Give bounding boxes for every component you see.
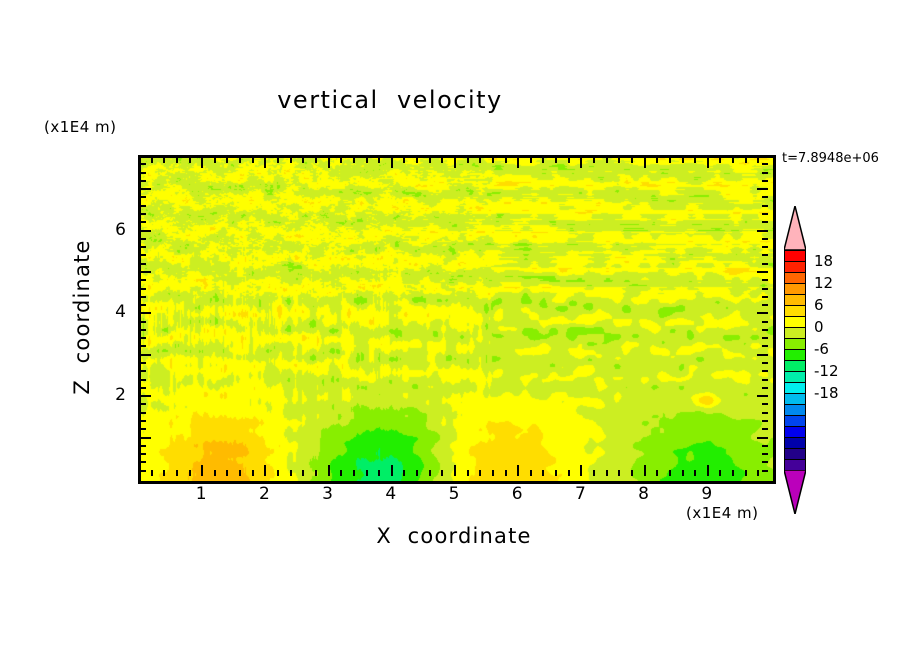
x-axis-tick xyxy=(378,157,380,163)
y-axis-tick xyxy=(140,172,146,174)
velocity-field-heatmap xyxy=(141,158,773,481)
x-axis-tick xyxy=(580,465,582,476)
y-axis-tick xyxy=(762,387,768,389)
y-axis-tick xyxy=(140,403,146,405)
x-axis-tick-label: 3 xyxy=(322,484,333,504)
y-axis-tick xyxy=(762,304,768,306)
y-axis-tick xyxy=(762,329,768,331)
x-axis-tick xyxy=(593,470,595,476)
y-axis-tick xyxy=(140,279,146,281)
y-axis-tick xyxy=(757,312,768,314)
y-axis-tick xyxy=(140,254,146,256)
y-axis-tick xyxy=(140,370,146,372)
y-axis-tick xyxy=(762,428,768,430)
x-axis-tick xyxy=(593,157,595,163)
x-axis-tick xyxy=(682,470,684,476)
y-axis-tick xyxy=(140,296,146,298)
x-axis-tick xyxy=(163,470,165,476)
y-axis-tick xyxy=(140,470,146,472)
x-axis-tick xyxy=(542,157,544,163)
x-axis-tick-label: 8 xyxy=(638,484,649,504)
figure-canvas: vertical velocity (x1E4 m) (x1E4 m) t=7.… xyxy=(0,0,904,654)
x-axis-tick xyxy=(328,465,330,476)
x-axis-tick xyxy=(467,157,469,163)
x-axis-tick xyxy=(214,157,216,163)
y-axis-tick xyxy=(140,321,146,323)
x-axis-tick xyxy=(732,157,734,163)
y-axis-tick xyxy=(140,271,151,273)
x-axis-tick xyxy=(492,470,494,476)
y-axis-tick xyxy=(762,180,768,182)
y-axis-tick xyxy=(140,412,146,414)
x-axis-tick xyxy=(517,465,519,476)
x-axis-tick xyxy=(568,470,570,476)
x-axis-tick xyxy=(151,470,153,476)
x-axis-tick xyxy=(340,157,342,163)
x-axis-tick xyxy=(479,470,481,476)
y-axis-tick xyxy=(140,354,151,356)
x-axis-tick xyxy=(176,470,178,476)
colorbar-tick-label: 12 xyxy=(814,274,833,292)
x-axis-tick xyxy=(669,157,671,163)
y-axis-tick xyxy=(140,387,146,389)
x-axis-tick xyxy=(277,157,279,163)
x-axis-tick xyxy=(732,470,734,476)
x-axis-tick xyxy=(416,157,418,163)
x-axis-tick xyxy=(530,157,532,163)
x-axis-tick xyxy=(505,470,507,476)
y-axis-tick xyxy=(140,329,146,331)
x-axis-tick xyxy=(707,465,709,476)
x-axis-tick xyxy=(644,157,646,168)
y-axis-tick xyxy=(762,345,768,347)
y-axis-tick xyxy=(762,213,768,215)
y-axis-tick xyxy=(757,395,768,397)
y-axis-tick xyxy=(140,163,146,165)
x-axis-tick xyxy=(429,470,431,476)
x-axis-tick xyxy=(757,470,759,476)
x-axis-tick xyxy=(719,470,721,476)
x-axis-tick xyxy=(353,157,355,163)
y-axis-tick xyxy=(140,337,146,339)
y-axis-tick xyxy=(757,230,768,232)
x-axis-tick xyxy=(315,470,317,476)
y-axis-tick xyxy=(762,470,768,472)
x-axis-tick xyxy=(694,157,696,163)
y-axis-tick xyxy=(762,461,768,463)
x-axis-tick xyxy=(656,157,658,163)
x-axis-tick xyxy=(277,470,279,476)
y-axis-tick xyxy=(757,271,768,273)
x-axis-units-label: (x1E4 m) xyxy=(686,504,759,522)
x-axis-tick xyxy=(403,470,405,476)
x-axis-tick xyxy=(479,157,481,163)
x-axis-tick xyxy=(264,465,266,476)
x-axis-tick xyxy=(429,157,431,163)
y-axis-tick-label: 4 xyxy=(96,302,126,322)
y-axis-tick xyxy=(140,362,146,364)
y-axis-tick xyxy=(762,403,768,405)
x-axis-tick-label: 2 xyxy=(259,484,270,504)
y-axis-tick xyxy=(762,445,768,447)
y-axis-tick xyxy=(140,461,146,463)
y-axis-tick xyxy=(140,304,146,306)
y-axis-tick xyxy=(762,337,768,339)
x-axis-tick-label: 7 xyxy=(575,484,586,504)
y-axis-tick xyxy=(140,205,146,207)
y-axis-tick xyxy=(757,437,768,439)
x-axis-tick xyxy=(201,157,203,168)
y-axis-tick xyxy=(762,379,768,381)
y-axis-tick xyxy=(140,213,146,215)
y-axis-tick xyxy=(140,453,146,455)
x-axis-tick xyxy=(719,157,721,163)
y-axis-tick xyxy=(140,420,146,422)
y-axis-tick xyxy=(140,230,151,232)
x-axis-tick-label: 1 xyxy=(196,484,207,504)
x-axis-tick-label: 5 xyxy=(449,484,460,504)
x-axis-tick xyxy=(366,157,368,163)
y-axis-tick xyxy=(762,370,768,372)
colorbar-tick-label: -12 xyxy=(814,362,839,380)
x-axis-tick xyxy=(467,470,469,476)
x-axis-tick xyxy=(441,470,443,476)
y-axis-tick xyxy=(140,428,146,430)
y-axis-tick xyxy=(762,296,768,298)
x-axis-tick xyxy=(239,157,241,163)
y-axis-tick xyxy=(140,238,146,240)
y-axis-tick xyxy=(140,445,146,447)
x-axis-tick xyxy=(505,157,507,163)
y-axis-tick xyxy=(762,196,768,198)
x-axis-tick xyxy=(264,157,266,168)
x-axis-tick xyxy=(454,157,456,168)
colorbar-tick-label: -6 xyxy=(814,340,829,358)
x-axis-tick xyxy=(555,157,557,163)
y-axis-tick xyxy=(140,221,146,223)
colorbar-over-arrow-icon xyxy=(784,206,806,250)
y-axis-tick xyxy=(762,362,768,364)
x-axis-tick xyxy=(517,157,519,168)
y-axis-tick xyxy=(762,321,768,323)
x-axis-tick xyxy=(214,470,216,476)
x-axis-tick-label: 4 xyxy=(385,484,396,504)
x-axis-tick xyxy=(542,470,544,476)
x-axis-tick xyxy=(745,157,747,163)
x-axis-tick xyxy=(441,157,443,163)
colorbar-tick-label: 6 xyxy=(814,296,824,314)
colorbar-tick-label: 0 xyxy=(814,318,824,336)
x-axis-tick xyxy=(315,157,317,163)
contour-plot-area xyxy=(138,155,776,484)
x-axis-tick xyxy=(378,470,380,476)
x-axis-tick xyxy=(606,157,608,163)
x-axis-tick xyxy=(302,157,304,163)
y-axis-tick xyxy=(757,188,768,190)
y-axis-tick xyxy=(762,453,768,455)
x-axis-tick-label: 9 xyxy=(701,484,712,504)
y-axis-tick-label: 2 xyxy=(96,385,126,405)
y-axis-tick xyxy=(140,188,151,190)
x-axis-tick xyxy=(618,157,620,163)
x-axis-tick xyxy=(151,157,153,163)
x-axis-tick xyxy=(252,470,254,476)
x-axis-tick xyxy=(340,470,342,476)
x-axis-tick xyxy=(189,157,191,163)
y-axis-tick xyxy=(762,163,768,165)
x-axis-tick xyxy=(290,470,292,476)
colorbar-tick-label: 18 xyxy=(814,252,833,270)
x-axis-tick xyxy=(454,465,456,476)
x-axis-tick xyxy=(631,157,633,163)
y-axis-tick xyxy=(762,172,768,174)
x-axis-tick xyxy=(707,157,709,168)
y-axis-tick-label: 6 xyxy=(96,220,126,240)
y-axis-tick xyxy=(140,246,146,248)
colorbar: 181260-6-12-18 xyxy=(784,206,806,514)
y-axis-tick xyxy=(140,395,151,397)
y-axis-tick xyxy=(762,254,768,256)
y-axis-tick xyxy=(762,288,768,290)
x-axis-tick xyxy=(555,470,557,476)
x-axis-tick xyxy=(669,470,671,476)
y-axis-tick xyxy=(762,263,768,265)
x-axis-tick xyxy=(328,157,330,168)
x-axis-tick xyxy=(302,470,304,476)
x-axis-tick xyxy=(606,470,608,476)
x-axis-tick xyxy=(757,157,759,163)
y-axis-tick xyxy=(762,412,768,414)
x-axis-tick xyxy=(189,470,191,476)
y-axis-tick xyxy=(140,437,151,439)
x-axis-tick xyxy=(201,465,203,476)
y-axis-tick xyxy=(140,288,146,290)
x-axis-tick xyxy=(694,470,696,476)
x-axis-tick xyxy=(366,470,368,476)
y-axis-tick xyxy=(762,246,768,248)
timestamp-label: t=7.8948e+06 xyxy=(782,151,879,166)
colorbar-tick-label: -18 xyxy=(814,384,839,402)
x-axis-tick xyxy=(353,470,355,476)
x-axis-tick xyxy=(631,470,633,476)
x-axis-tick xyxy=(530,470,532,476)
x-axis-tick xyxy=(290,157,292,163)
x-axis-tick xyxy=(492,157,494,163)
y-axis-tick xyxy=(762,279,768,281)
x-axis-tick xyxy=(682,157,684,163)
y-axis-tick xyxy=(762,420,768,422)
y-axis-tick xyxy=(140,180,146,182)
x-axis-title: X coordinate xyxy=(138,524,770,548)
colorbar-under-arrow-icon xyxy=(784,470,806,514)
y-axis-tick xyxy=(762,205,768,207)
x-axis-tick xyxy=(226,470,228,476)
y-axis-tick xyxy=(762,238,768,240)
x-axis-tick xyxy=(644,465,646,476)
y-axis-tick xyxy=(762,221,768,223)
page-title: vertical velocity xyxy=(0,86,780,114)
x-axis-tick xyxy=(176,157,178,163)
x-axis-tick xyxy=(403,157,405,163)
y-axis-tick xyxy=(140,379,146,381)
x-axis-tick xyxy=(226,157,228,163)
y-axis-tick xyxy=(140,196,146,198)
x-axis-tick xyxy=(745,470,747,476)
y-axis-tick xyxy=(140,263,146,265)
x-axis-tick xyxy=(163,157,165,163)
y-axis-title: Z coordinate xyxy=(70,217,94,417)
x-axis-tick-label: 6 xyxy=(512,484,523,504)
x-axis-tick xyxy=(618,470,620,476)
x-axis-tick xyxy=(391,157,393,168)
x-axis-tick xyxy=(239,470,241,476)
x-axis-tick xyxy=(656,470,658,476)
y-axis-units-label: (x1E4 m) xyxy=(44,118,117,136)
x-axis-tick xyxy=(580,157,582,168)
y-axis-tick xyxy=(757,354,768,356)
x-axis-tick xyxy=(252,157,254,163)
y-axis-tick xyxy=(140,345,146,347)
x-axis-tick xyxy=(568,157,570,163)
x-axis-tick xyxy=(416,470,418,476)
x-axis-tick xyxy=(391,465,393,476)
y-axis-tick xyxy=(140,312,151,314)
